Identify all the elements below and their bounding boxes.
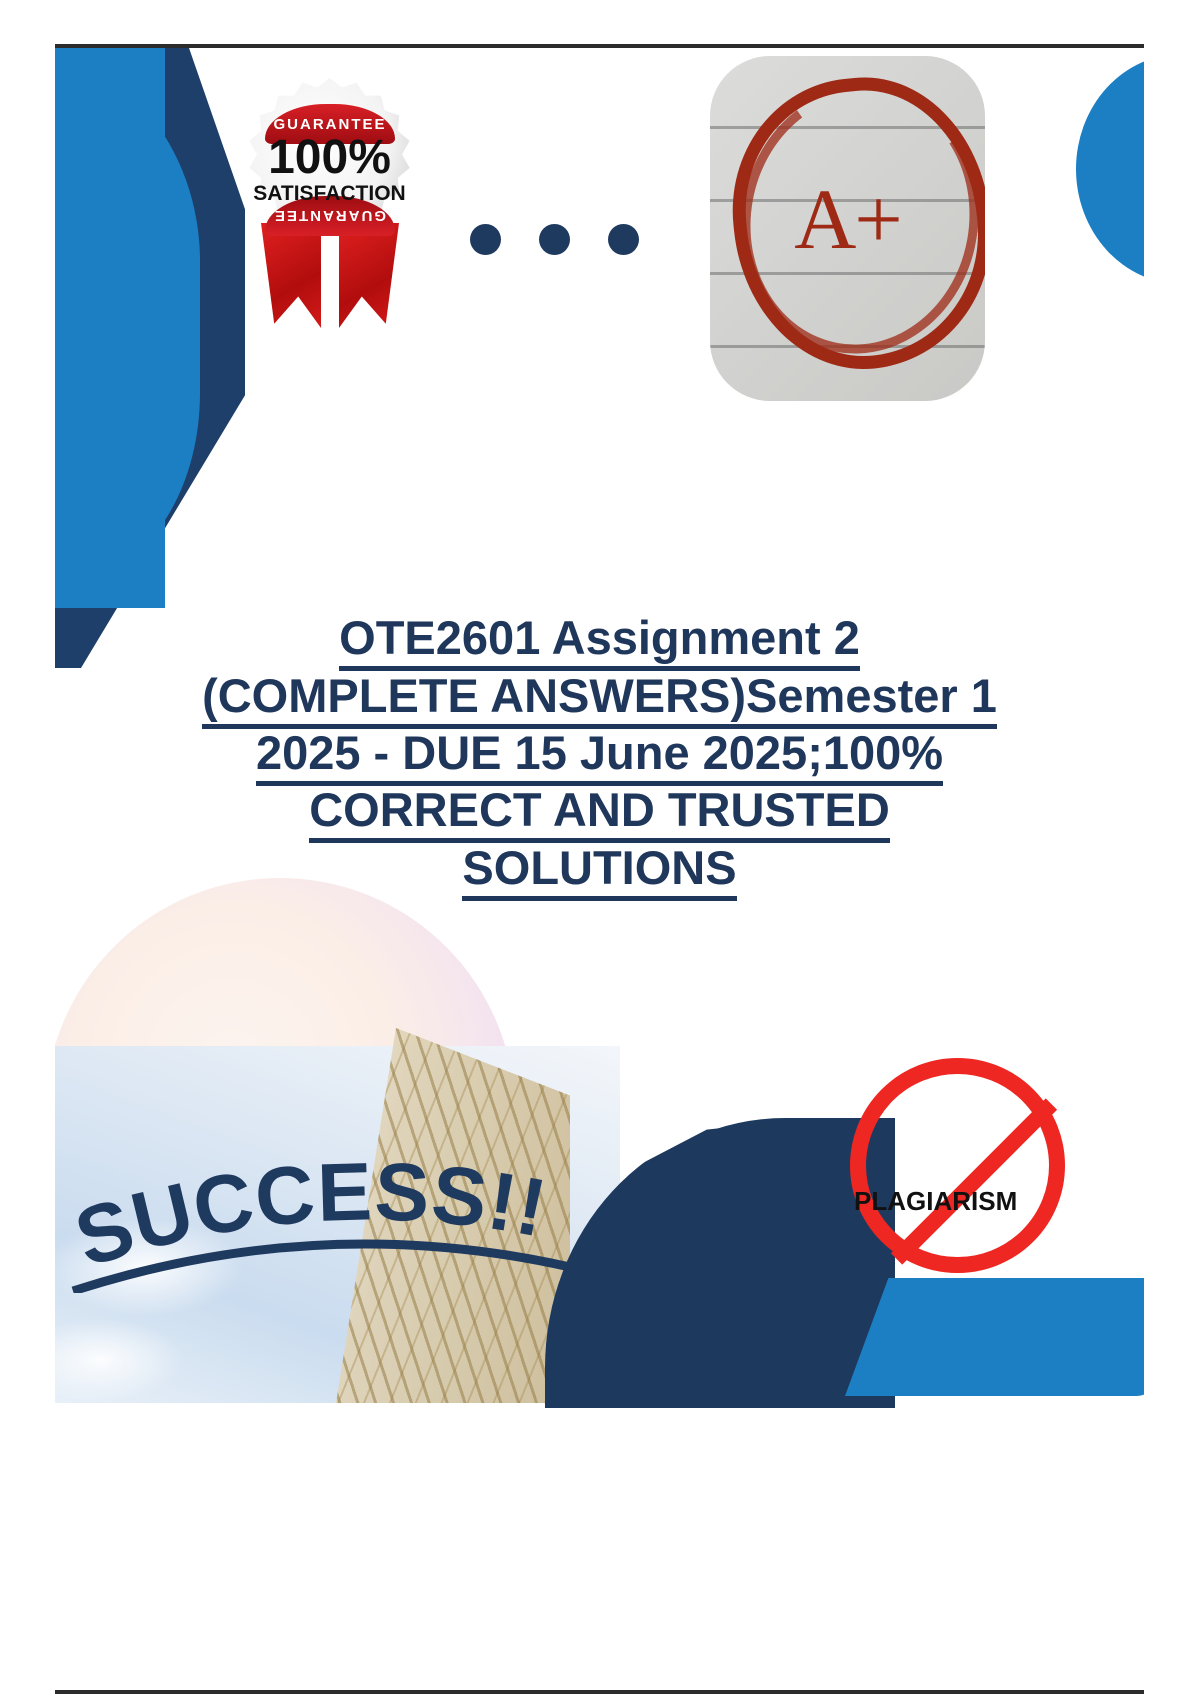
title-line-text: CORRECT AND TRUSTED	[309, 783, 890, 843]
blue-edge-shape	[1076, 54, 1144, 284]
grade-letter-text: A+	[710, 176, 985, 262]
title-line-text: (COMPLETE ANSWERS)Semester 1	[202, 669, 997, 729]
title-line: OTE2601 Assignment 2	[55, 609, 1144, 666]
badge-arc-top-text: GUARANTEE	[273, 116, 386, 133]
satisfaction-guarantee-badge: GUARANTEE GUARANTEE 100% SATISFACTION	[237, 78, 422, 338]
badge-arc-bottom-text: GUARANTEE	[273, 208, 386, 225]
title-line: (COMPLETE ANSWERS)Semester 1	[55, 667, 1144, 724]
grade-aplus-tile: A+	[710, 56, 985, 401]
page-bottom-rule	[55, 1690, 1144, 1694]
title-line-text: OTE2601 Assignment 2	[339, 611, 860, 671]
badge-ribbon-icon	[255, 223, 405, 338]
success-text: SUCCESS!!	[65, 1146, 554, 1284]
dot-icon	[539, 224, 570, 255]
page-title: OTE2601 Assignment 2 (COMPLETE ANSWERS)S…	[55, 609, 1144, 896]
plagiarism-label: PLAGIARISM	[854, 1186, 1094, 1217]
prohibition-slash-icon	[891, 1098, 1057, 1264]
dots-separator	[470, 224, 639, 255]
title-line: 2025 - DUE 15 June 2025;100%	[55, 724, 1144, 781]
dot-icon	[470, 224, 501, 255]
document-page: GUARANTEE GUARANTEE 100% SATISFACTION A+…	[0, 0, 1200, 1700]
title-line: CORRECT AND TRUSTED	[55, 781, 1144, 838]
success-wordmark: SUCCESS!!	[63, 1123, 603, 1293]
badge-satisfaction-text: SATISFACTION	[237, 182, 422, 206]
success-text-svg: SUCCESS!!	[63, 1123, 603, 1293]
no-plagiarism-sign: PLAGIARISM	[850, 1058, 1095, 1303]
prohibition-circle-icon	[850, 1058, 1065, 1273]
badge-percent-text: 100%	[237, 134, 422, 182]
title-line-text: 2025 - DUE 15 June 2025;100%	[256, 726, 943, 786]
cover-artwork: GUARANTEE GUARANTEE 100% SATISFACTION A+…	[55, 48, 1144, 1438]
success-photo: SUCCESS!!	[55, 878, 620, 1403]
dot-icon	[608, 224, 639, 255]
